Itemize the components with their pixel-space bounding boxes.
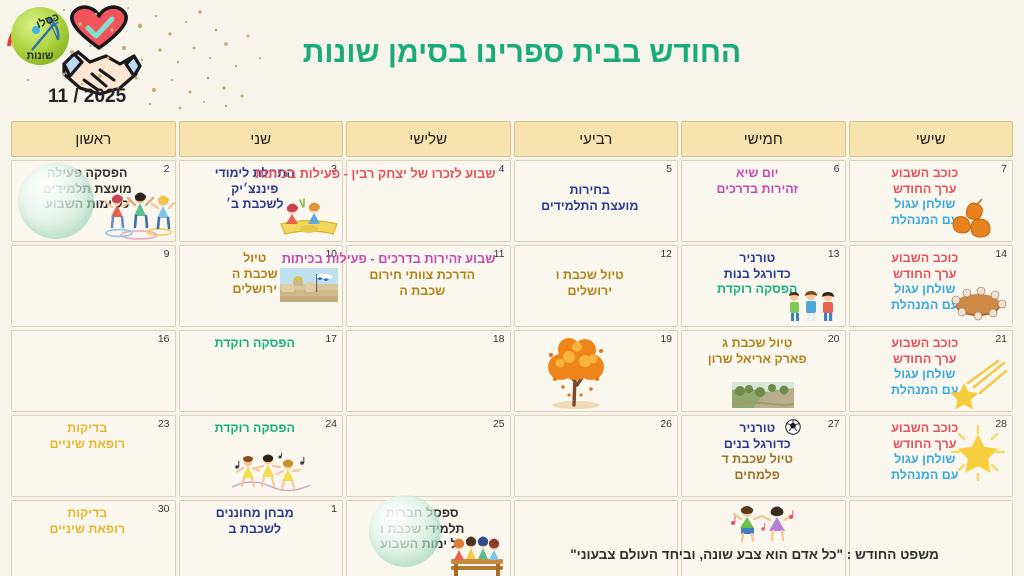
day-event-line: שולחן עגול (858, 367, 993, 383)
calendar-table: שישי חמישי רביעי שלישי שני ראשון 7כוכב ה… (8, 118, 1016, 576)
day-event-line: הפסקה רוקדת (690, 282, 825, 298)
calendar-day-cell-20[interactable]: 20טיול שכבת גפארק אריאל שרון (681, 330, 846, 412)
calendar-day-cell-empty[interactable] (514, 500, 679, 576)
calendar-week-row: 14כוכב השבועערך החודששולחן עגולעם המנהלת… (11, 245, 1013, 327)
day-content: הפסקה רוקדת (184, 333, 339, 352)
day-content: טורנירכדורגל בניםטיול שכבת דפלמחים (686, 418, 841, 483)
day-event-line: פלמחים (690, 468, 825, 484)
day-content (351, 333, 506, 336)
day-content (16, 333, 171, 336)
calendar-week-row: 7כוכב השבועערך החודששולחן עגולעם המנהלת … (11, 160, 1013, 242)
day-event-line: רופאת שיניים (20, 522, 155, 538)
day-number: 30 (158, 503, 170, 515)
day-content (351, 418, 506, 421)
calendar-day-cell-empty[interactable] (849, 500, 1014, 576)
day-event-line: טורניר (690, 421, 825, 437)
weekday-header-tuesday: שלישי (346, 121, 511, 157)
day-content: כוכב השבועערך החודששולחן עגולעם המנהלת (854, 163, 1009, 228)
calendar-day-cell-9[interactable]: 9 (11, 245, 176, 327)
day-content: יום שיאזהירות בדרכים (686, 163, 841, 197)
day-event-line: מועצת התלמידים (523, 199, 658, 215)
day-number: 1 (331, 503, 337, 515)
day-event-line: שכבת ה (355, 284, 490, 300)
day-number: 21 (995, 333, 1007, 345)
day-number: 20 (828, 333, 840, 345)
day-content (854, 503, 1009, 506)
calendar-week-row: 28כוכב השבועערך החודששולחן עגולעם המנהלת… (11, 415, 1013, 497)
calendar-day-cell-27[interactable]: 27טורנירכדורגל בניםטיול שכבת דפלמחים (681, 415, 846, 497)
day-content (351, 163, 506, 183)
calendar-day-cell-30[interactable]: 30בדיקותרופאת שיניים (11, 500, 176, 576)
weekday-header-sunday: ראשון (11, 121, 176, 157)
calendar-day-cell-empty[interactable]: ספסל חברותתלמידי שכבת וכל ימות השבוע (346, 500, 511, 576)
page-title: החודש בבית ספרינו בסימן שונות (282, 36, 762, 70)
day-event-line: התחלת לימודי (188, 166, 323, 182)
calendar-day-cell-18[interactable]: 18 (346, 330, 511, 412)
calendar-day-cell-7[interactable]: 7כוכב השבועערך החודששולחן עגולעם המנהלת (849, 160, 1014, 242)
day-number: 27 (828, 418, 840, 430)
day-event-line: הפסקה רוקדת (188, 421, 323, 437)
day-content: הפסקה רוקדת (184, 418, 339, 437)
day-content (519, 418, 674, 421)
day-content: בחירותמועצת התלמידים (519, 163, 674, 214)
day-content: בדיקותרופאת שיניים (16, 503, 171, 537)
day-number: 14 (995, 248, 1007, 260)
day-content (519, 333, 674, 336)
day-content (686, 503, 841, 506)
day-content: כוכב השבועערך החודששולחן עגולעם המנהלת (854, 248, 1009, 313)
day-number: 9 (164, 248, 170, 260)
day-content: הדרכת צוותי חירוםשכבת ה (351, 248, 506, 299)
day-number: 19 (660, 333, 672, 345)
day-event-line: פיננצ׳יק (188, 182, 323, 198)
day-content (519, 503, 674, 506)
day-event-line: מבחן מחוננים (188, 506, 323, 522)
day-content: התחלת לימודיפיננצ׳יקלשכבת ב׳ (184, 163, 339, 213)
day-content: מבחן מחונניםלשכבת ב (184, 503, 339, 537)
day-event-line: לשכבת ב׳ (188, 197, 323, 213)
calendar-page: החודש בבית ספרינו בסימן שונות 11 / 2025 (0, 0, 1024, 576)
calendar-day-cell-25[interactable]: 25 (346, 415, 511, 497)
kislev-zodiac-badge: כסלו שונות (8, 4, 72, 68)
day-content: טיול שכבת וירושלים (519, 248, 674, 299)
month-year-label: 11 / 2025 (48, 86, 126, 108)
day-event-line: כוכב השבוע (858, 421, 993, 437)
day-number: 26 (660, 418, 672, 430)
day-event-line: בחירות (523, 183, 658, 199)
day-event-line: הפסקה רוקדת (188, 336, 323, 352)
day-number: 7 (1001, 163, 1007, 175)
day-event-line: בדיקות (20, 421, 155, 437)
day-event-line: טיול (188, 251, 323, 267)
day-event-line: שולחן עגול (858, 282, 993, 298)
day-event-line: לשכבת ב (188, 522, 323, 538)
weekday-header-monday: שני (179, 121, 344, 157)
badge-bottom-text: שונות (27, 50, 54, 62)
day-event-line: טיול שכבת ג (690, 336, 825, 352)
day-event-line: ירושלים (188, 282, 323, 298)
day-content: טיול שכבת גפארק אריאל שרון (686, 333, 841, 367)
day-event-line: ערך החודש (858, 352, 993, 368)
day-event-line: טיול שכבת ו (523, 268, 658, 284)
day-number: 24 (325, 418, 337, 430)
calendar-day-cell-26[interactable]: 26 (514, 415, 679, 497)
day-event-line: שולחן עגול (858, 452, 993, 468)
day-number: 17 (325, 333, 337, 345)
calendar-day-cell-2[interactable]: 2הפסקה פעילהמועצת תלמידיםכל ימות השבוע (11, 160, 176, 242)
calendar-day-cell-17[interactable]: 17הפסקה רוקדת (179, 330, 344, 412)
calendar-day-cell-28[interactable]: 28כוכב השבועערך החודששולחן עגולעם המנהלת (849, 415, 1014, 497)
day-event-line: עם המנהלת (858, 298, 993, 314)
day-number: 12 (660, 248, 672, 260)
day-event-line: טורניר (690, 251, 825, 267)
calendar-day-cell-12[interactable]: 12טיול שכבת וירושלים (514, 245, 679, 327)
day-number: 5 (666, 163, 672, 175)
day-event-line: כדורגל בנים (690, 437, 825, 453)
autumn-tree-icon (533, 333, 619, 411)
day-event-line: טיול שכבת ד (690, 452, 825, 468)
day-number: 4 (499, 163, 505, 175)
day-event-line: זהירות בדרכים (690, 182, 825, 198)
day-event-line: פארק אריאל שרון (690, 352, 825, 368)
day-event-line: ערך החודש (858, 182, 993, 198)
day-event-line: שכבת ה (188, 267, 323, 283)
calendar-grid: שישי חמישי רביעי שלישי שני ראשון 7כוכב ה… (8, 118, 1016, 576)
calendar-day-cell-1[interactable]: 1מבחן מחונניםלשכבת ב (179, 500, 344, 576)
monthly-motto: משפט החודש : "כל אדם הוא צבע שונה, וביחד… (415, 547, 1024, 562)
calendar-day-cell-13[interactable]: 13טורנירכדורגל בנותהפסקה רוקדת (681, 245, 846, 327)
day-event-line: שולחן עגול (858, 197, 993, 213)
calendar-day-cell-21[interactable]: 21כוכב השבועערך החודששולחן עגולעם המנהלת (849, 330, 1014, 412)
calendar-day-cell-16[interactable]: 16 (11, 330, 176, 412)
calendar-day-cell-19[interactable]: 19 (514, 330, 679, 412)
calendar-day-cell-4[interactable]: 4שבוע לזכרו של יצחק רבין - פעילות בכיתות (346, 160, 511, 242)
day-number: 13 (828, 248, 840, 260)
calendar-day-cell-11[interactable]: 11הדרכת צוותי חירוםשכבת השבוע זהירות בדר… (346, 245, 511, 327)
day-number: 11 (494, 248, 505, 260)
dancing-kids-icon (228, 453, 314, 495)
bubble-decoration (18, 163, 94, 239)
day-event-line: כדורגל בנות (690, 267, 825, 283)
day-event-line: כוכב השבוע (858, 251, 993, 267)
day-content: כוכב השבועערך החודששולחן עגולעם המנהלת (854, 333, 1009, 398)
day-number: 23 (158, 418, 170, 430)
day-event-line: ירושלים (523, 284, 658, 300)
weekday-header-thursday: חמישי (681, 121, 846, 157)
day-event-line: ערך החודש (858, 437, 993, 453)
weekday-header-row: שישי חמישי רביעי שלישי שני ראשון (11, 121, 1013, 157)
day-number: 18 (493, 333, 505, 345)
calendar-day-cell-14[interactable]: 14כוכב השבועערך החודששולחן עגולעם המנהלת (849, 245, 1014, 327)
day-event-line: עם המנהלת (858, 468, 993, 484)
day-event-line: כוכב השבוע (858, 166, 993, 182)
day-content: כוכב השבועערך החודששולחן עגולעם המנהלת (854, 418, 1009, 483)
calendar-day-cell-24[interactable]: 24הפסקה רוקדת (179, 415, 344, 497)
calendar-day-cell-6[interactable]: 6יום שיאזהירות בדרכים (681, 160, 846, 242)
calendar-day-cell-10[interactable]: 10טיולשכבת הירושלים (179, 245, 344, 327)
page-header: החודש בבית ספרינו בסימן שונות 11 / 2025 (0, 0, 1024, 118)
day-event-line: בדיקות (20, 506, 155, 522)
day-event-line: ערך החודש (858, 267, 993, 283)
day-event-line: עם המנהלת (858, 213, 993, 229)
day-content: טורנירכדורגל בנותהפסקה רוקדת (686, 248, 841, 298)
weekday-header-wednesday: רביעי (514, 121, 679, 157)
calendar-day-cell-5[interactable]: 5בחירותמועצת התלמידים (514, 160, 679, 242)
day-content (16, 248, 171, 251)
day-number: 6 (834, 163, 840, 175)
day-number: 16 (158, 333, 170, 345)
day-event-line: כוכב השבוע (858, 336, 993, 352)
day-content: בדיקותרופאת שיניים (16, 418, 171, 452)
dancing-pair-icon (725, 503, 801, 543)
park-photo-icon (732, 382, 794, 408)
day-number: 2 (164, 163, 170, 175)
weekday-header-friday: שישי (849, 121, 1014, 157)
calendar-body: 7כוכב השבועערך החודששולחן עגולעם המנהלת … (11, 160, 1013, 576)
day-event-line: עם המנהלת (858, 383, 993, 399)
day-event-line: רופאת שיניים (20, 437, 155, 453)
calendar-week-row: משפט החודש : "כל אדם הוא צבע שונה, וביחד… (11, 500, 1013, 576)
day-content: טיולשכבת הירושלים (184, 248, 339, 298)
day-event-line: הדרכת צוותי חירום (355, 268, 490, 284)
calendar-day-cell-3[interactable]: 3התחלת לימודיפיננצ׳יקלשכבת ב׳ (179, 160, 344, 242)
calendar-day-cell-empty[interactable]: משפט החודש : "כל אדם הוא צבע שונה, וביחד… (681, 500, 846, 576)
day-event-line: יום שיא (690, 166, 825, 182)
day-number: 3 (331, 163, 337, 175)
day-number: 10 (325, 248, 337, 260)
day-number: 28 (995, 418, 1007, 430)
day-number: 25 (493, 418, 505, 430)
calendar-day-cell-23[interactable]: 23בדיקותרופאת שיניים (11, 415, 176, 497)
calendar-week-row: 21כוכב השבועערך החודששולחן עגולעם המנהלת… (11, 330, 1013, 412)
